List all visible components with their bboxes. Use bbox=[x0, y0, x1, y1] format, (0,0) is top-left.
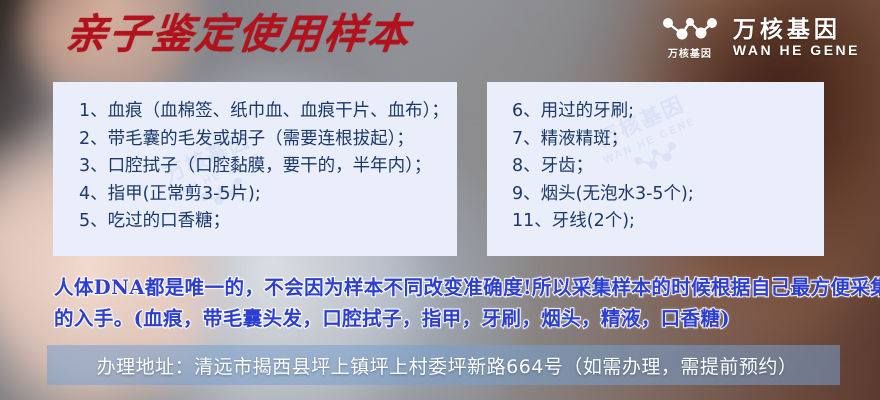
list-item: 8、牙齿； bbox=[512, 153, 824, 181]
dna-molecule-icon bbox=[661, 16, 719, 43]
note-line-2: 的入手。(血痕，带毛囊头发，口腔拭子，指甲，牙刷，烟头，精液，口香糖) bbox=[54, 303, 844, 334]
brand-name-en: WAN HE GENE bbox=[733, 43, 860, 58]
sample-list-panel-right: 万核基因 WAN HE GENE bbox=[487, 82, 824, 256]
brand-name-cn: 万核基因 bbox=[733, 17, 860, 42]
poster: 亲子鉴定使用样本 bbox=[0, 0, 880, 400]
list-item: 1、血痕（血棉签、纸巾血、血痕干片、血布）； bbox=[79, 98, 457, 126]
address-text: 办理地址：清远市揭西县坪上镇坪上村委坪新路664号（如需办理，需提前预约） bbox=[47, 345, 847, 385]
list-item: 7、精液精斑； bbox=[512, 126, 824, 154]
list-item: 9、烟头(无泡水3-5个); bbox=[512, 181, 824, 209]
sample-list-right: 6、用过的牙刷; 7、精液精斑； 8、牙齿； 9、烟头(无泡水3-5个); 11… bbox=[487, 82, 824, 236]
note-paragraph: 人体DNA都是唯一的，不会因为样本不同改变准确度!所以采集样本的时候根据自己最方… bbox=[54, 272, 844, 334]
list-item: 3、口腔拭子（口腔黏膜，要干的，半年内）； bbox=[79, 153, 457, 181]
brand-mark-caption: 万核基因 bbox=[668, 45, 712, 60]
sample-list-panel-left: 万核基因 WAN HE GENE bbox=[53, 82, 457, 256]
list-item: 5、吃过的口香糖； bbox=[79, 208, 457, 236]
brand-wordmark: 万核基因 WAN HE GENE bbox=[733, 17, 860, 59]
brand-logo: 万核基因 万核基因 WAN HE GENE bbox=[661, 16, 860, 60]
list-item: 2、带毛囊的毛发或胡子（需要连根拔起）； bbox=[79, 126, 457, 154]
brand-mark: 万核基因 bbox=[661, 16, 719, 60]
note-line-1: 人体DNA都是唯一的，不会因为样本不同改变准确度!所以采集样本的时候根据自己最方… bbox=[54, 272, 844, 303]
list-item: 4、指甲(正常剪3-5片); bbox=[79, 181, 457, 209]
page-title: 亲子鉴定使用样本 bbox=[64, 13, 413, 56]
sample-list-left: 1、血痕（血棉签、纸巾血、血痕干片、血布）； 2、带毛囊的毛发或胡子（需要连根拔… bbox=[53, 82, 457, 236]
list-item: 11、牙线(2个); bbox=[512, 208, 824, 236]
list-item: 6、用过的牙刷; bbox=[512, 98, 824, 126]
